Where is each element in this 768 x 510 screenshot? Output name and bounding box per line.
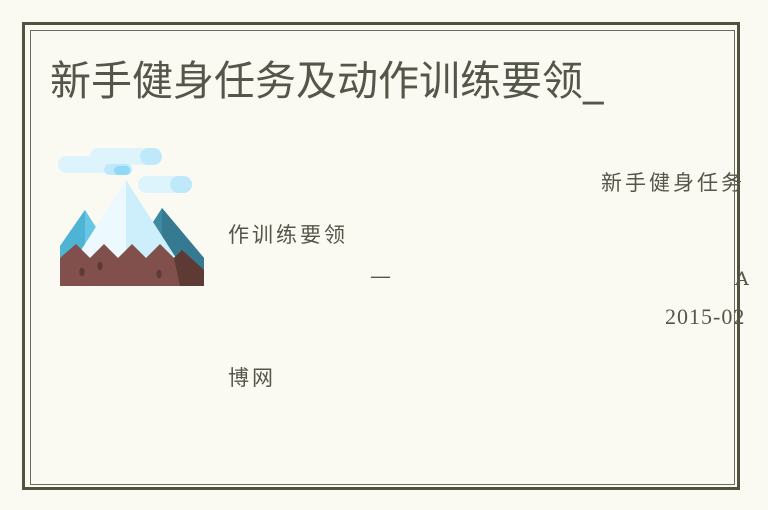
caption-right-line-1: 新手健身任务 <box>601 167 745 197</box>
caption-date: 2015-02 <box>665 304 745 330</box>
screenshot-canvas: 新手健身任务及动作训练要领_ <box>0 0 768 510</box>
caption-left-line-2: 博网 <box>228 362 276 392</box>
caption-left-line-1: 作训练要领 <box>228 219 348 249</box>
caption-right-letter: A <box>735 268 749 290</box>
page-title: 新手健身任务及动作训练要领_ <box>50 54 604 108</box>
mountain-illustration <box>52 146 212 298</box>
caption-left-dash: — <box>370 264 391 288</box>
